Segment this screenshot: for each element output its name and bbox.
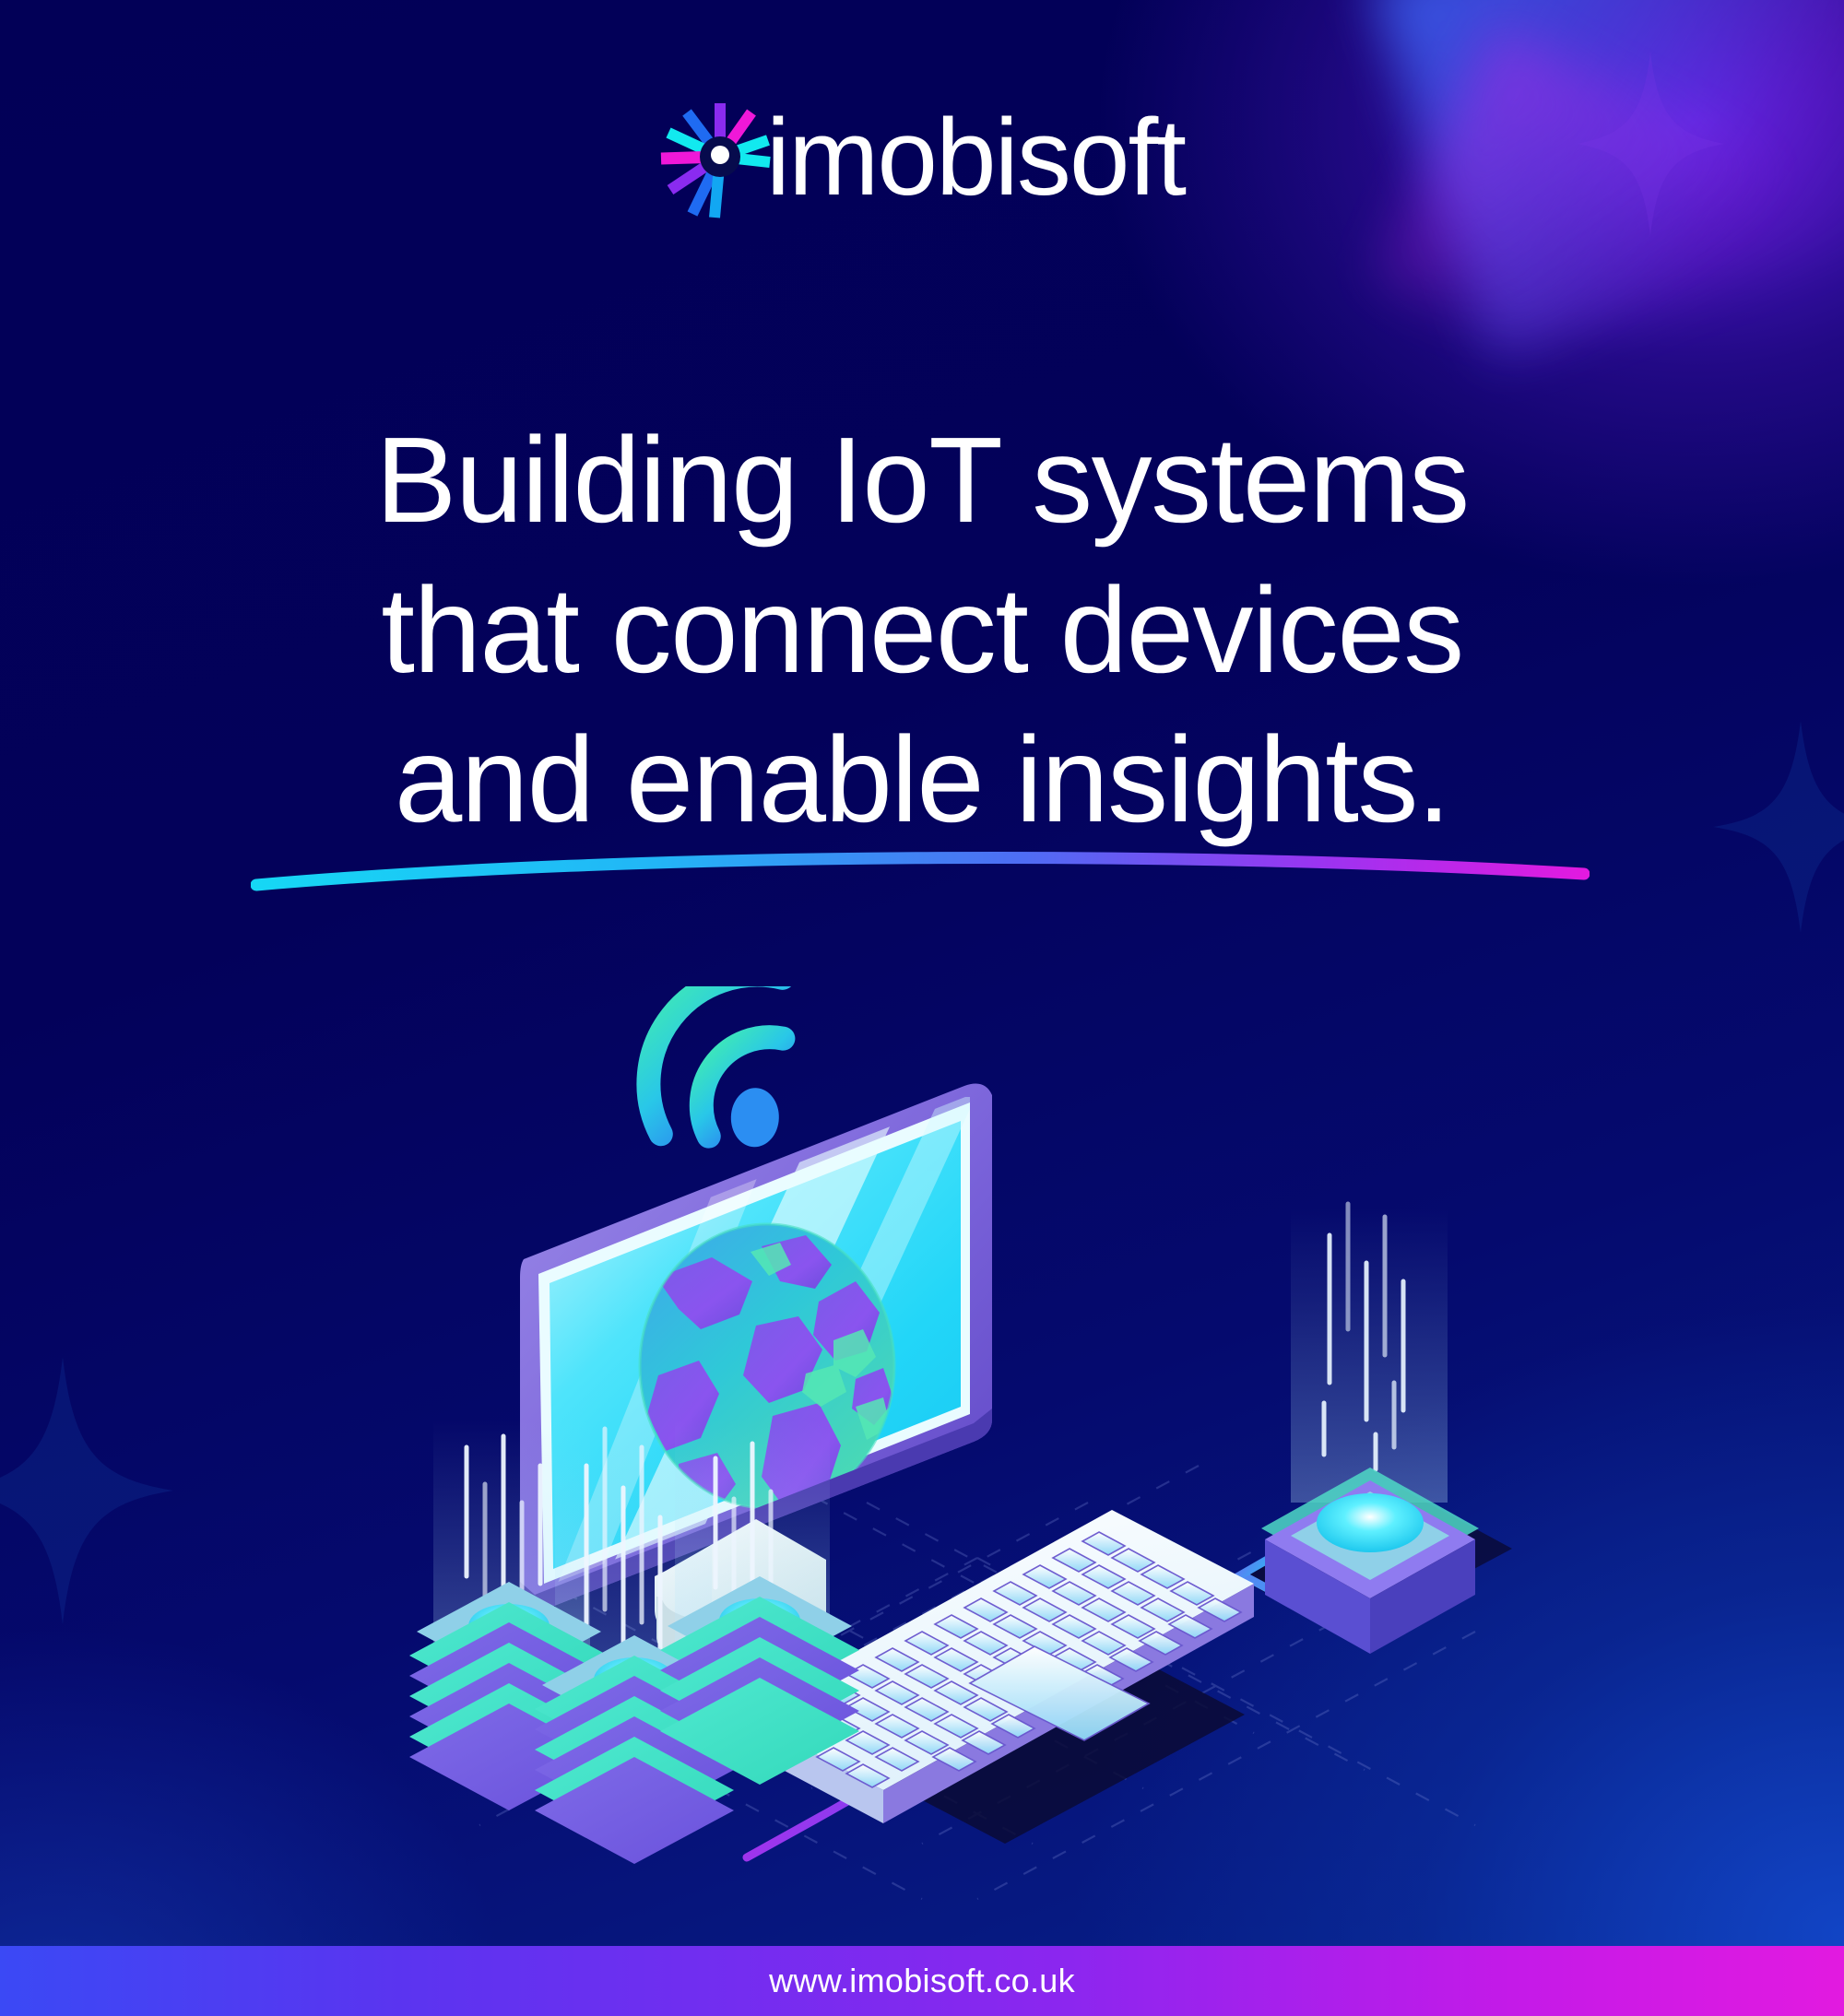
sparkle-star-right [1713,721,1844,933]
corner-glow-streak-secondary [1375,29,1778,415]
brand-wordmark: imobisoft [766,103,1185,212]
isometric-iot-workstation [313,986,1531,1917]
headline-line-3: and enable insights. [203,705,1641,855]
footer-bar: www.imobisoft.co.uk [0,1946,1844,2016]
sparkle-star-left [0,1357,173,1624]
server-stack-group [409,1420,859,1864]
headline-line-1: Building IoT systems [203,406,1641,555]
starburst-asterisk-icon [659,101,777,219]
headline-line-2: that connect devices [203,556,1641,705]
website-url[interactable]: www.imobisoft.co.uk [769,1962,1075,2000]
page-headline: Building IoT systems that connect device… [203,406,1641,855]
poster-canvas: imobisoft Building IoT systems that conn… [0,0,1844,2016]
server-pedestal [1261,1204,1479,1654]
brand-logo: imobisoft [0,96,1844,219]
